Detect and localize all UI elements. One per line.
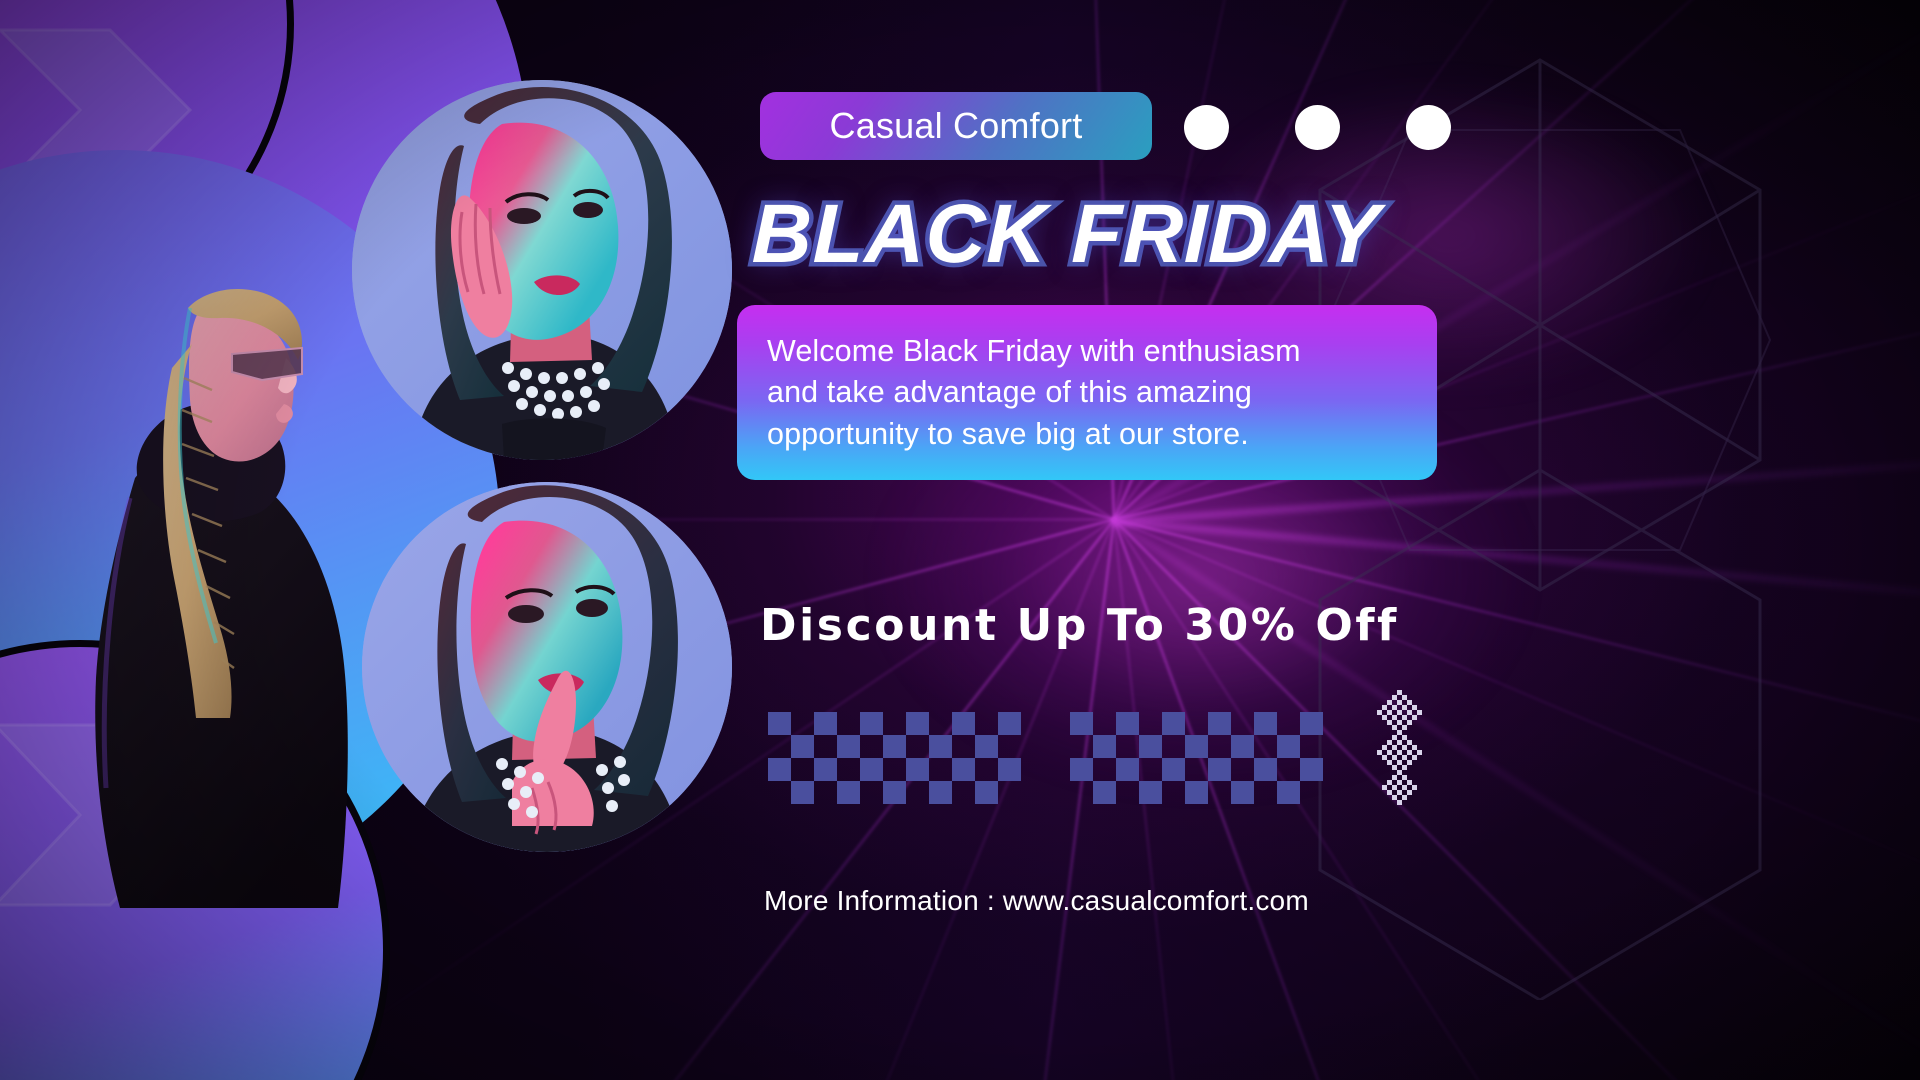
checker-pattern-left	[768, 712, 1021, 804]
decor-dot-1	[1184, 105, 1229, 150]
brand-badge[interactable]: Casual Comfort	[760, 92, 1152, 160]
description-panel: Welcome Black Friday with enthusiasm and…	[737, 305, 1437, 480]
hexagon-wireframe-decoration	[1240, 40, 1800, 1000]
hoodie-model-photo	[80, 248, 410, 908]
portrait-photo-bottom	[362, 482, 732, 852]
decor-dot-2	[1295, 105, 1340, 150]
checker-pattern-right	[1070, 712, 1323, 804]
checker-pattern-group	[768, 712, 1323, 804]
description-line-1: Welcome Black Friday with enthusiasm	[767, 331, 1407, 372]
description-line-3: opportunity to save big at our store.	[767, 414, 1407, 455]
decor-dot-3	[1406, 105, 1451, 150]
portrait-photo-top	[352, 80, 732, 460]
brand-badge-label: Casual Comfort	[830, 105, 1083, 147]
page-title: BLACK FRIDAY	[751, 186, 1443, 282]
decor-dots-group	[1184, 105, 1451, 150]
black-friday-promo-banner: Casual Comfort BLACK FRIDAY Welcome Blac…	[0, 0, 1920, 1080]
discount-headline: Discount Up To 30% Off	[760, 600, 1399, 651]
diamond-dot-ornament-icon	[1368, 690, 1432, 816]
description-line-2: and take advantage of this amazing	[767, 372, 1407, 413]
more-information-footer[interactable]: More Information : www.casualcomfort.com	[764, 885, 1309, 917]
